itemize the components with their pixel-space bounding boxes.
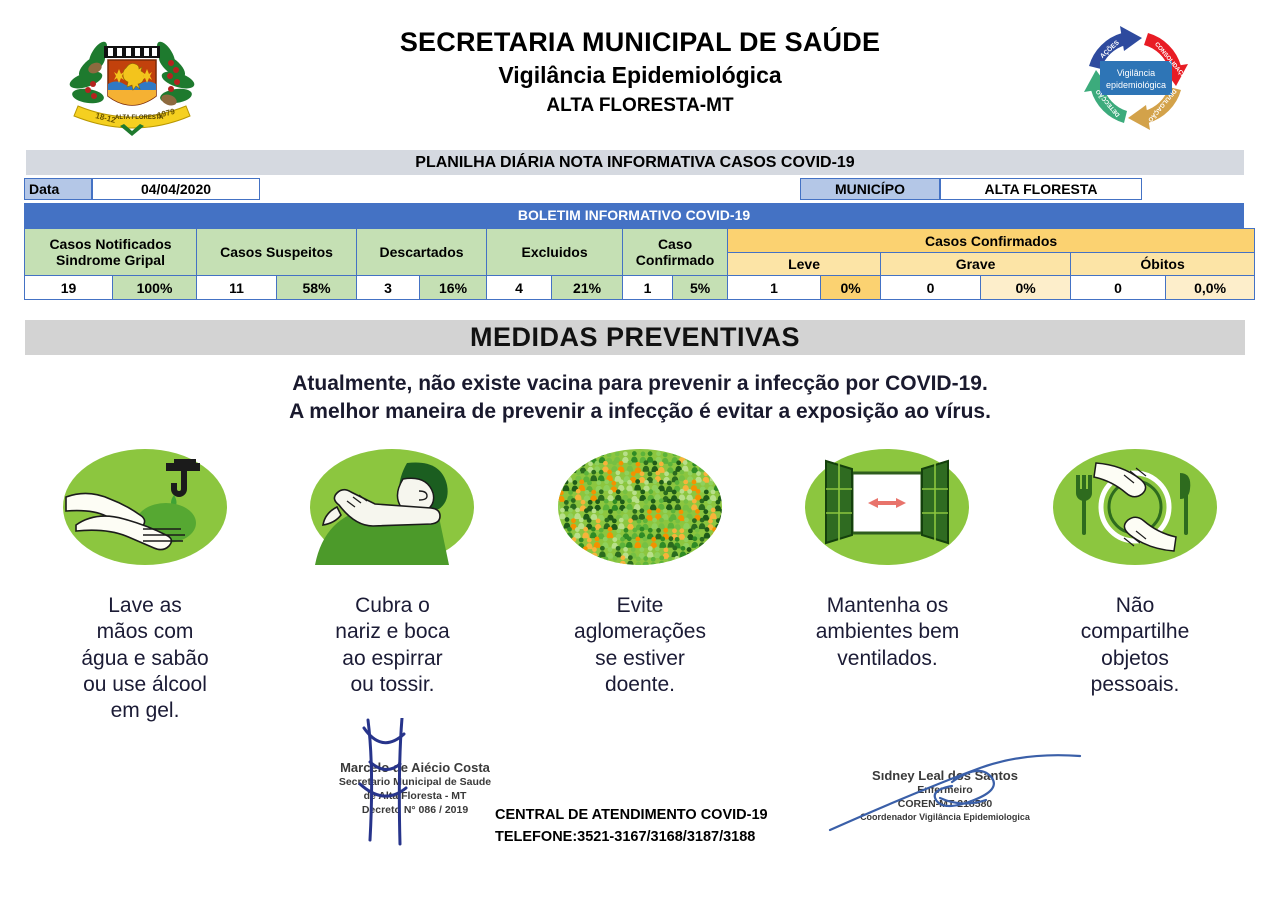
vigilancia-epidemiologica-cycle-icon: Vigilância epidemiológica AÇÕES CONSOLID… [1058,14,1214,142]
signature-name-left: Marcelo de Aiécio Costa [290,760,540,775]
svg-text:Vigilância: Vigilância [1117,68,1155,78]
central-atendimento-phone: TELEFONE:3521-3167/3168/3187/3188 [495,827,795,849]
th-descartados: Descartados [357,229,487,276]
signature-name-right: Sıdney Leal dos Santos [810,768,1080,783]
cover-sneeze-elbow-icon [295,445,490,575]
prevention-tips-list: Lave asmãos comágua e sabãoou use álcool… [30,445,1250,724]
date-municipality-row: Data 04/04/2020 MUNICÍPO ALTA FLORESTA [2,178,1244,200]
th-caso-confirmado: Caso Confirmado [623,229,728,276]
lead-line-2: A melhor maneira de prevenir a infecção … [0,398,1280,426]
percent-leve: 0% [821,276,881,300]
covid-cases-table: Casos Notificados Sindrome Gripal Casos … [24,228,1255,300]
page-title: SECRETARIA MUNICIPAL DE SAÚDE [250,26,1030,59]
medidas-preventivas-lead: Atualmente, não existe vacina para preve… [0,370,1280,427]
percent-caso-confirmado: 5% [673,276,728,300]
value-casos-suspeitos: 11 [197,276,277,300]
central-atendimento-block: CENTRAL DE ATENDIMENTO COVID-19 TELEFONE… [495,805,795,849]
sheet-banner-title: PLANILHA DIÁRIA NOTA INFORMATIVA CASOS C… [26,150,1244,175]
signature-role-right-2: COREN-MT 218580 [810,797,1080,811]
page-header: 18-12 1979 ALTA FLORESTA SECRETARIA MUNI… [0,0,1280,148]
svg-text:epidemiológica: epidemiológica [1106,80,1166,90]
list-item-label: Cubra onariz e bocaao espirrarou tossir. [278,593,508,698]
no-sharing-utensils-icon [1038,445,1233,575]
th-grave: Grave [881,253,1071,276]
value-leve: 1 [728,276,821,300]
lead-line-1: Atualmente, não existe vacina para preve… [0,370,1280,398]
value-excluidos: 4 [487,276,552,300]
page-location: ALTA FLORESTA-MT [250,94,1030,119]
handwashing-icon [48,445,243,575]
signature-role-left-2: de Alta Floresta - MT [290,789,540,803]
central-atendimento-title: CENTRAL DE ATENDIMENTO COVID-19 [495,805,795,827]
municipality-label: MUNICÍPO [800,178,940,200]
list-item: Lave asmãos comágua e sabãoou use álcool… [30,445,260,724]
th-obitos: Óbitos [1071,253,1255,276]
list-item: Mantenha osambientes bemventilados. [773,445,1003,724]
table-value-row: 19 100% 11 58% 3 16% 4 21% 1 5% 1 0% 0 0… [25,276,1255,300]
signature-role-right-3: Coordenador Vigilância Epidemiologica [810,811,1080,823]
date-label: Data [24,178,92,200]
percent-descartados: 16% [420,276,487,300]
list-item-label: Nãocompartilheobjetospessoais. [1020,593,1250,698]
signature-block-coordinator: Sıdney Leal dos Santos Enfermeiro COREN-… [810,768,1080,823]
list-item: Nãocompartilheobjetospessoais. [1020,445,1250,724]
header-titles: SECRETARIA MUNICIPAL DE SAÚDE Vigilância… [250,26,1030,119]
list-item-label: Lave asmãos comágua e sabãoou use álcool… [30,593,260,724]
percent-obitos: 0,0% [1166,276,1255,300]
th-casos-notificados-l1: Casos Notificados [49,236,171,252]
value-descartados: 3 [357,276,420,300]
th-excluidos: Excluidos [487,229,623,276]
page-subtitle: Vigilância Epidemiológica [250,61,1030,91]
value-caso-confirmado: 1 [623,276,673,300]
th-casos-suspeitos: Casos Suspeitos [197,229,357,276]
svg-text:ALTA FLORESTA: ALTA FLORESTA [115,115,164,121]
list-item: Cubra onariz e bocaao espirrarou tossir. [278,445,508,724]
municipality-value[interactable]: ALTA FLORESTA [940,178,1142,200]
signature-role-right-1: Enfermeiro [810,783,1080,797]
date-value[interactable]: 04/04/2020 [92,178,260,200]
list-item-label: Mantenha osambientes bemventilados. [773,593,1003,672]
th-caso-confirmado-l1: Caso [658,236,692,252]
percent-casos-suspeitos: 58% [277,276,357,300]
avoid-crowds-icon [543,445,738,575]
percent-grave: 0% [981,276,1071,300]
th-caso-confirmado-l2: Confirmado [636,252,715,268]
list-item: Eviteaglomeraçõesse estiverdoente. [525,445,755,724]
value-obitos: 0 [1071,276,1166,300]
th-casos-notificados-l2: Sindrome Gripal [56,252,165,268]
covid-bulletin-sheet: PLANILHA DIÁRIA NOTA INFORMATIVA CASOS C… [2,150,1244,300]
medidas-preventivas-banner: MEDIDAS PREVENTIVAS [25,320,1245,355]
value-grave: 0 [881,276,981,300]
boletim-title-bar: BOLETIM INFORMATIVO COVID-19 [24,203,1244,228]
th-leve: Leve [728,253,881,276]
table-header-row-1: Casos Notificados Sindrome Gripal Casos … [25,229,1255,253]
alta-floresta-coat-of-arms-icon: 18-12 1979 ALTA FLORESTA [62,18,202,143]
th-casos-notificados: Casos Notificados Sindrome Gripal [25,229,197,276]
th-casos-confirmados-group: Casos Confirmados [728,229,1255,253]
percent-casos-notificados: 100% [113,276,197,300]
signature-role-left-1: Secretario Municipal de Saude [290,775,540,789]
list-item-label: Eviteaglomeraçõesse estiverdoente. [525,593,755,698]
value-casos-notificados: 19 [25,276,113,300]
ventilate-window-icon [790,445,985,575]
medidas-preventivas-title: MEDIDAS PREVENTIVAS [25,320,1245,355]
percent-excluidos: 21% [552,276,623,300]
